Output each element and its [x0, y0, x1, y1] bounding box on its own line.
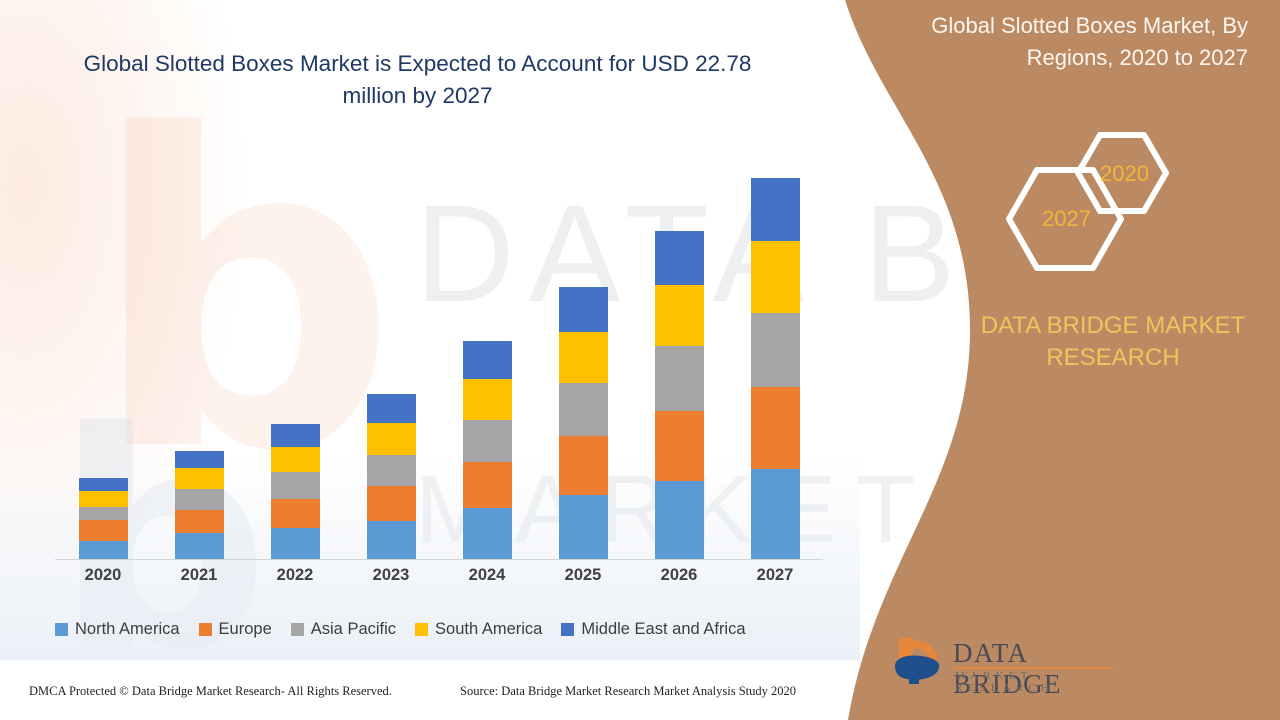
- legend-item[interactable]: Europe: [199, 620, 272, 639]
- stacked-bar: [655, 231, 704, 559]
- stacked-bar: [271, 424, 320, 559]
- bar-segment: [559, 436, 608, 494]
- stacked-bar: [463, 341, 512, 559]
- legend-swatch-icon: [561, 623, 574, 636]
- infographic-root: b b DATA BRIDGE MARKET RESEARCH Global S…: [0, 0, 1280, 720]
- bar-segment: [463, 379, 512, 420]
- legend-swatch-icon: [291, 623, 304, 636]
- bar-segment: [655, 481, 704, 559]
- legend-item[interactable]: North America: [55, 620, 180, 639]
- x-axis-labels: 20202021202220232024202520262027: [55, 566, 823, 592]
- stacked-bar: [751, 178, 800, 559]
- bar-segment: [751, 469, 800, 559]
- bar-segment: [655, 346, 704, 410]
- hexagon-shapes: [997, 125, 1187, 290]
- brand-name: DATA BRIDGE MARKET RESEARCH: [963, 310, 1263, 375]
- hexagon-badges: 2020 2027: [997, 125, 1187, 290]
- bar-segment: [367, 394, 416, 423]
- bar-segment: [463, 462, 512, 508]
- bar-segment: [559, 495, 608, 559]
- bar-column: [151, 150, 247, 559]
- legend-label: Europe: [219, 620, 272, 639]
- bar-segment: [559, 287, 608, 332]
- legend-item[interactable]: Middle East and Africa: [561, 620, 745, 639]
- bar-segment: [367, 486, 416, 521]
- bar-segment: [655, 231, 704, 285]
- logo-mark-icon: [893, 632, 951, 690]
- hexagon-2020-label: 2020: [1100, 161, 1149, 187]
- stacked-bar: [559, 287, 608, 559]
- bar-segment: [367, 423, 416, 455]
- bar-segment: [463, 420, 512, 462]
- stacked-bar: [367, 394, 416, 559]
- footer-source-note: Source: Data Bridge Market Research Mark…: [460, 684, 796, 699]
- logo-subtitle: MARKET RESEARCH: [955, 670, 1123, 694]
- bar-segment: [175, 451, 224, 468]
- bar-segment: [463, 341, 512, 379]
- x-axis-label: 2025: [535, 566, 631, 592]
- bar-column: [439, 150, 535, 559]
- bar-segment: [655, 285, 704, 346]
- chart-legend: North AmericaEuropeAsia PacificSouth Ame…: [55, 617, 830, 641]
- bar-column: [343, 150, 439, 559]
- legend-item[interactable]: Asia Pacific: [291, 620, 396, 639]
- x-axis-label: 2026: [631, 566, 727, 592]
- bar-segment: [79, 541, 128, 559]
- hexagon-2027-label: 2027: [1042, 206, 1091, 232]
- bar-segment: [367, 521, 416, 559]
- x-axis-label: 2021: [151, 566, 247, 592]
- bar-segment: [751, 241, 800, 313]
- bar-column: [727, 150, 823, 559]
- bar-segment: [79, 520, 128, 540]
- bar-segment: [175, 489, 224, 509]
- chart-title: Global Slotted Boxes Market is Expected …: [60, 48, 775, 112]
- legend-item[interactable]: South America: [415, 620, 542, 639]
- x-axis-label: 2024: [439, 566, 535, 592]
- bar-segment: [271, 528, 320, 559]
- stacked-bar: [175, 451, 224, 559]
- chart-plot-area: [55, 150, 823, 559]
- bar-segment: [79, 478, 128, 490]
- legend-swatch-icon: [199, 623, 212, 636]
- bar-segment: [271, 424, 320, 446]
- legend-swatch-icon: [55, 623, 68, 636]
- bar-segment: [751, 178, 800, 241]
- legend-label: South America: [435, 620, 542, 639]
- bar-segment: [559, 332, 608, 383]
- bar-segment: [175, 510, 224, 534]
- bar-segment: [271, 472, 320, 499]
- x-axis-label: 2023: [343, 566, 439, 592]
- bar-segment: [175, 533, 224, 559]
- legend-label: North America: [75, 620, 180, 639]
- bar-column: [55, 150, 151, 559]
- bar-segment: [271, 499, 320, 529]
- footer-dmca-notice: DMCA Protected © Data Bridge Market Rese…: [29, 684, 392, 699]
- x-axis-label: 2020: [55, 566, 151, 592]
- bar-segment: [175, 468, 224, 489]
- bar-segment: [79, 507, 128, 520]
- bar-column: [247, 150, 343, 559]
- bar-segment: [751, 387, 800, 469]
- bar-segment: [751, 313, 800, 388]
- x-axis-label: 2022: [247, 566, 343, 592]
- legend-swatch-icon: [415, 623, 428, 636]
- data-bridge-logo: DATA BRIDGE MARKET RESEARCH: [893, 632, 1123, 694]
- bar-segment: [271, 447, 320, 473]
- x-axis-line: [55, 559, 823, 560]
- x-axis-label: 2027: [727, 566, 823, 592]
- legend-label: Asia Pacific: [311, 620, 396, 639]
- bar-segment: [367, 455, 416, 487]
- legend-label: Middle East and Africa: [581, 620, 745, 639]
- bar-segment: [463, 508, 512, 559]
- bar-segment: [655, 411, 704, 482]
- stacked-bar: [79, 478, 128, 559]
- logo-divider: [955, 667, 1113, 669]
- bar-segment: [559, 383, 608, 436]
- bar-segment: [79, 491, 128, 507]
- panel-title: Global Slotted Boxes Market, By Regions,…: [858, 10, 1248, 74]
- bar-column: [631, 150, 727, 559]
- bar-column: [535, 150, 631, 559]
